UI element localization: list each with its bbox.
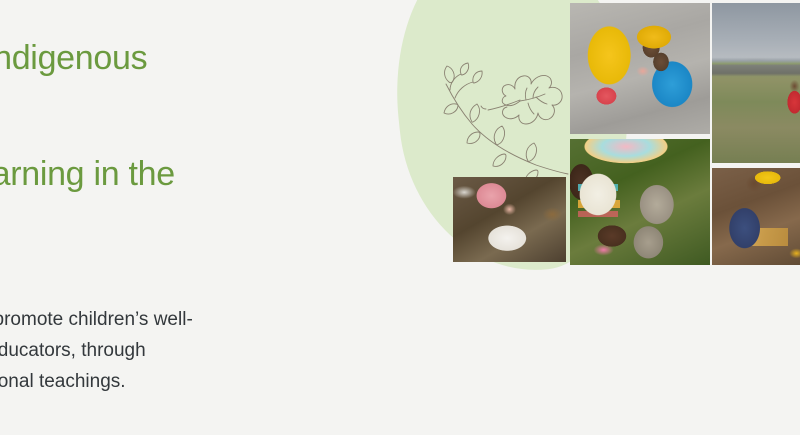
photo-image	[712, 3, 800, 163]
photo-bare-tree-and-child-in-red-coat	[712, 3, 800, 163]
photo-children-in-rain-gear-on-pavement	[570, 3, 710, 134]
slide-canvas: from Indigenous ves: ed Learning in the …	[0, 0, 800, 435]
photo-hands-on-stone-in-grass	[570, 139, 710, 265]
photo-image	[570, 139, 710, 265]
page-title-line-1: from Indigenous ves:	[0, 36, 378, 126]
photo-image	[453, 177, 566, 262]
photo-child-with-wooden-plank	[712, 168, 800, 265]
body-paragraph: e ways to promote children’s well- -bein…	[0, 305, 388, 397]
photo-collage	[450, 0, 800, 268]
photo-child-exploring-snow-on-stump	[453, 177, 566, 262]
photo-image	[712, 168, 800, 265]
photo-image	[570, 3, 710, 134]
text-column: from Indigenous ves: ed Learning in the …	[0, 36, 378, 243]
page-title-line-2: ed Learning in the s	[0, 152, 378, 242]
